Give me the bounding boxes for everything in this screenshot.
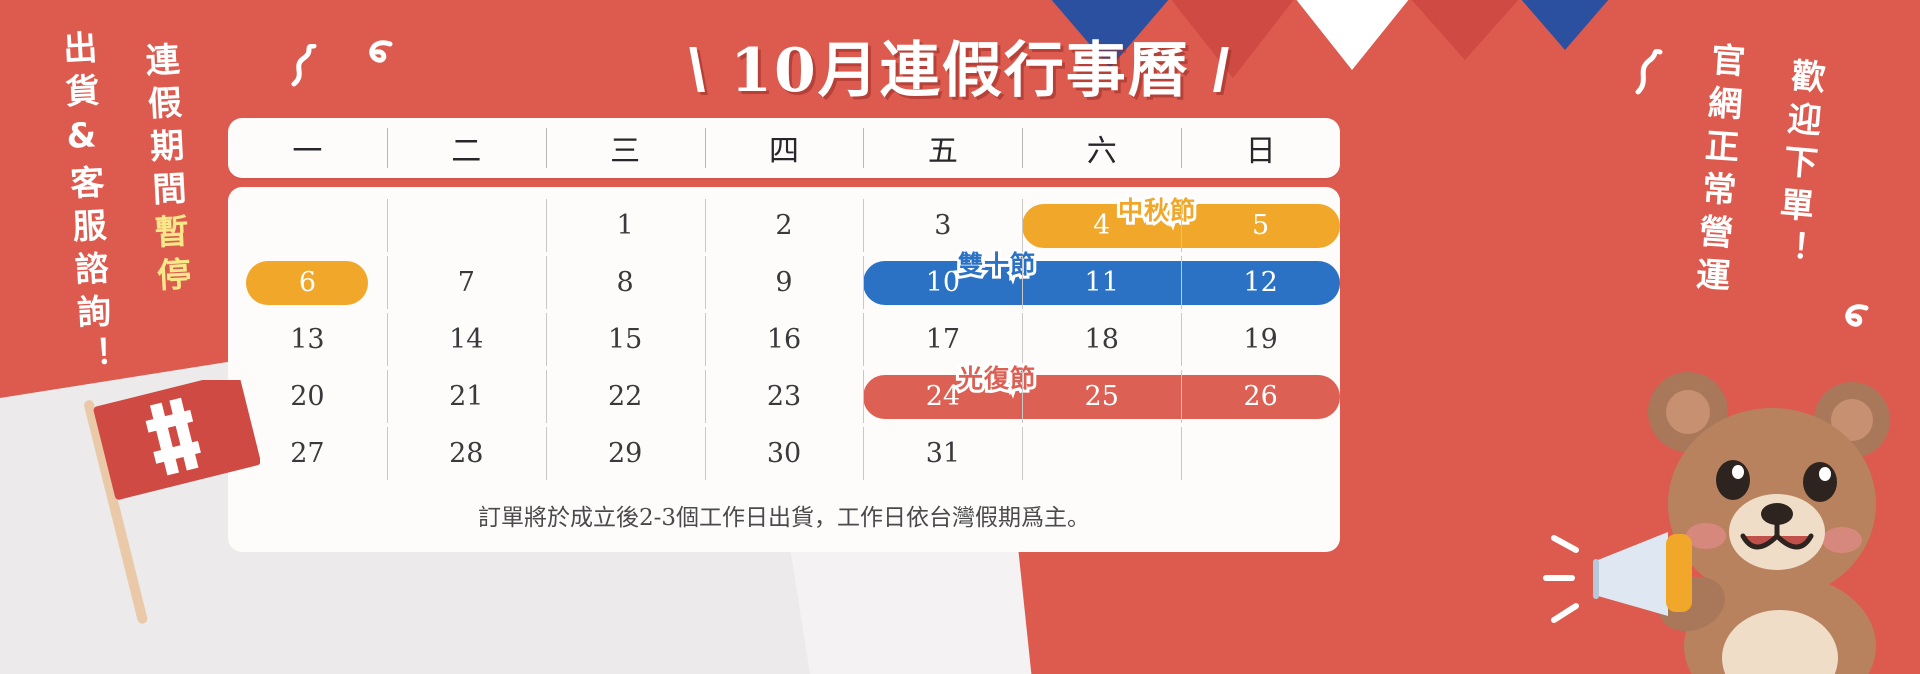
calendar: 一 二 三 四 五 六 日 中秋節 雙十節 光復節 1 — [228, 118, 1340, 552]
day-cell-2[interactable]: 2 — [705, 197, 864, 254]
day-cell-26[interactable]: 26 — [1181, 368, 1340, 425]
weekday-sun: 日 — [1181, 118, 1340, 178]
day-cell-29[interactable]: 29 — [546, 425, 705, 482]
right-note-column-2: 歡迎下單！ — [1771, 57, 1824, 274]
calendar-week-row: 27 28 29 30 31 — [228, 425, 1340, 482]
day-cell-13[interactable]: 13 — [228, 311, 387, 368]
calendar-footer-note: 訂單將於成立後2-3個工作日出貨，工作日依台灣假期爲主。 — [228, 482, 1340, 538]
left-note-column-2: 出貨&客服諮詢！ — [59, 29, 111, 380]
weekday-thu: 四 — [705, 118, 864, 178]
weekday-tue: 二 — [387, 118, 546, 178]
day-cell-9[interactable]: 9 — [705, 254, 864, 311]
day-cell-1[interactable]: 1 — [546, 197, 705, 254]
spiral-doodle-icon — [360, 36, 400, 76]
day-cell-18[interactable]: 18 — [1022, 311, 1181, 368]
weekday-wed: 三 — [546, 118, 705, 178]
squiggle-doodle-icon — [288, 44, 344, 90]
day-cell-empty — [228, 197, 387, 254]
holiday-calendar-banner: \ 10月連假行事曆 / 連假期間暫停 出貨&客服諮詢！ 官網正常營運 歡迎下單… — [0, 0, 1920, 674]
calendar-week-row: 13 14 15 16 17 18 19 — [228, 311, 1340, 368]
day-cell-12[interactable]: 12 — [1181, 254, 1340, 311]
spiral-doodle-right-icon — [1836, 298, 1876, 338]
calendar-week-row: 6 7 8 9 10 11 12 — [228, 254, 1340, 311]
right-note-column-1: 官網正常營運 — [1691, 41, 1743, 301]
weekday-mon: 一 — [228, 118, 387, 178]
left-note-1-highlight: 暫停 — [147, 213, 191, 301]
day-cell-16[interactable]: 16 — [705, 311, 864, 368]
day-cell-4[interactable]: 4 — [1022, 197, 1181, 254]
weekday-fri: 五 — [863, 118, 1022, 178]
day-cell-15[interactable]: 15 — [546, 311, 705, 368]
day-cell-7[interactable]: 7 — [387, 254, 546, 311]
calendar-weekday-header: 一 二 三 四 五 六 日 — [228, 118, 1340, 178]
bear-mascot-icon — [1480, 354, 1900, 674]
day-cell-14[interactable]: 14 — [387, 311, 546, 368]
day-cell-21[interactable]: 21 — [387, 368, 546, 425]
day-cell-23[interactable]: 23 — [705, 368, 864, 425]
day-cell-19[interactable]: 19 — [1181, 311, 1340, 368]
day-cell-empty — [1022, 425, 1181, 482]
day-cell-25[interactable]: 25 — [1022, 368, 1181, 425]
calendar-grid: 中秋節 雙十節 光復節 1 2 3 4 5 6 7 8 9 — [228, 187, 1340, 552]
taiwan-flag-icon — [60, 380, 260, 630]
left-note-column-1: 連假期間暫停 — [141, 41, 188, 300]
day-cell-8[interactable]: 8 — [546, 254, 705, 311]
title-slash-left: \ — [689, 37, 708, 104]
calendar-week-row: 1 2 3 4 5 — [228, 197, 1340, 254]
day-cell-10[interactable]: 10 — [863, 254, 1022, 311]
day-cell-empty — [1181, 425, 1340, 482]
weekday-sat: 六 — [1022, 118, 1181, 178]
day-cell-30[interactable]: 30 — [705, 425, 864, 482]
day-cell-31[interactable]: 31 — [863, 425, 1022, 482]
calendar-week-row: 20 21 22 23 24 25 26 — [228, 368, 1340, 425]
squiggle-doodle-right-icon — [1628, 48, 1672, 98]
day-cell-5[interactable]: 5 — [1181, 197, 1340, 254]
day-cell-22[interactable]: 22 — [546, 368, 705, 425]
day-cell-28[interactable]: 28 — [387, 425, 546, 482]
left-note-1-text: 連假期間 — [138, 41, 187, 215]
day-cell-11[interactable]: 11 — [1022, 254, 1181, 311]
day-cell-6[interactable]: 6 — [228, 254, 387, 311]
day-cell-24[interactable]: 24 — [863, 368, 1022, 425]
day-cell-empty — [387, 197, 546, 254]
